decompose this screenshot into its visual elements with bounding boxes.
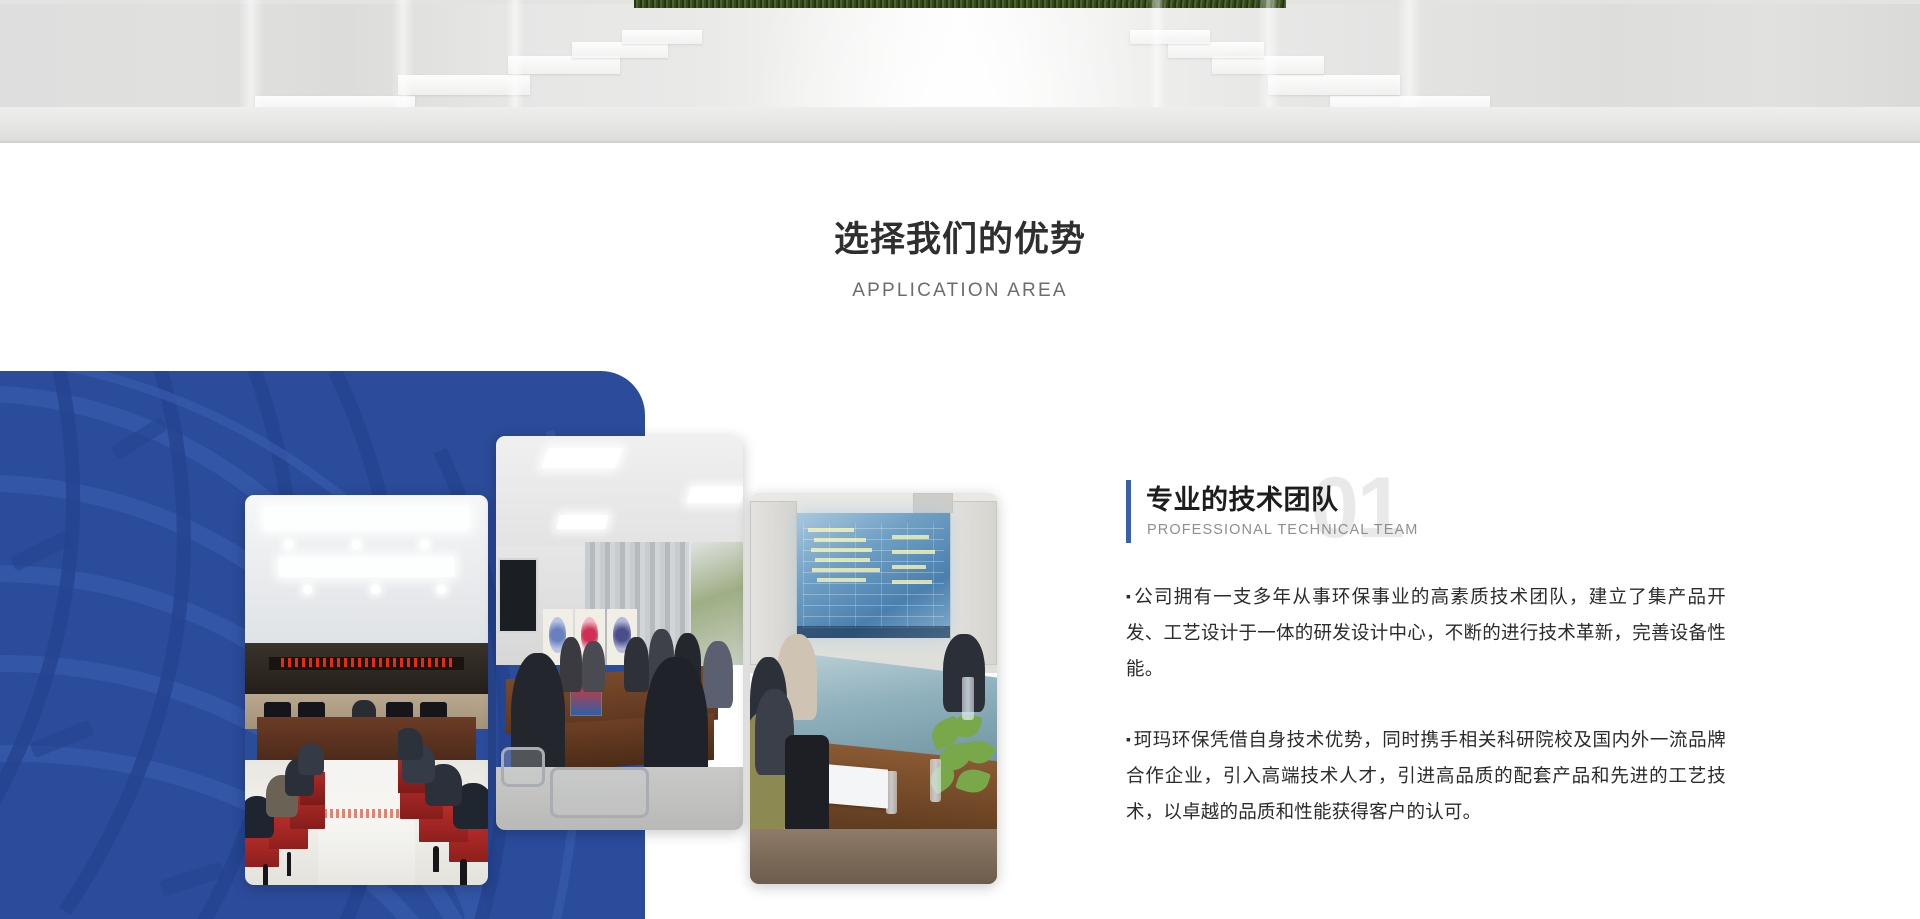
attendee <box>582 641 604 692</box>
accent-bar <box>1126 480 1131 543</box>
downlight <box>420 540 429 549</box>
banner-floor <box>0 107 1920 143</box>
banner-slab <box>1130 30 1210 44</box>
screen-text-row <box>892 535 929 539</box>
bullet-icon: ▪ <box>1126 588 1132 604</box>
ceiling-vent <box>913 493 953 513</box>
screen-text-row <box>814 538 866 542</box>
attendee <box>298 743 324 776</box>
water-bottle <box>886 771 897 814</box>
seat-block-left <box>245 737 325 885</box>
downlight <box>437 585 446 594</box>
page-subtitle: APPLICATION AREA <box>0 280 1920 302</box>
downlight <box>303 585 312 594</box>
banner-slab <box>622 30 702 44</box>
screen-taskbar <box>797 626 950 637</box>
banner-slab <box>572 42 668 58</box>
screen-text-row <box>815 558 870 562</box>
seat-leg <box>287 852 292 876</box>
led-banner-text <box>281 658 452 666</box>
attendee <box>560 637 582 692</box>
attendee <box>624 637 649 692</box>
chair <box>550 767 649 818</box>
seat-leg <box>263 864 269 885</box>
bullet-icon: ▪ <box>1126 731 1132 747</box>
chair <box>501 747 545 786</box>
water-bottle <box>962 677 973 720</box>
paragraph-1-text: 公司拥有一支多年从事环保事业的高素质技术团队，建立了集产品开发、工艺设计于一体的… <box>1126 586 1726 679</box>
feature-title: 专业的技术团队 <box>1146 478 1339 517</box>
feature-heading: 01 专业的技术团队 PROFESSIONAL TECHNICAL TEAM <box>1126 478 1726 554</box>
paragraph-2-text: 珂玛环保凭借自身技术优势，同时携手相关科研院校及国内外一流品牌合作企业，引入高端… <box>1126 729 1726 822</box>
banner-slab <box>1168 42 1264 58</box>
seat-leg <box>460 859 467 885</box>
downlight <box>352 540 361 549</box>
water-bottle <box>930 759 941 802</box>
feature-paragraph-1: ▪公司拥有一支多年从事环保事业的高素质技术团队，建立了集产品开发、工艺设计于一体… <box>1126 578 1726 687</box>
section-header: 选择我们的优势 APPLICATION AREA <box>0 143 1920 369</box>
plant-leaf <box>955 765 991 797</box>
attendee <box>398 728 423 761</box>
downlight <box>284 540 293 549</box>
banner-slab <box>508 56 620 74</box>
screen-text-row <box>808 528 854 532</box>
ceiling-tube-light <box>556 515 609 529</box>
banner-grass-strip <box>634 0 1286 8</box>
banner-slab <box>1268 75 1400 95</box>
screen-text-row <box>892 550 935 554</box>
screen-text-row <box>892 580 932 584</box>
hero-banner <box>0 0 1920 143</box>
feature-paragraph-2: ▪珂玛环保凭借自身技术优势，同时携手相关科研院校及国内外一流品牌合作企业，引入高… <box>1126 721 1726 830</box>
ceiling-tube-light <box>541 448 623 468</box>
screen-text-row <box>811 548 872 552</box>
feature-subtitle: PROFESSIONAL TECHNICAL TEAM <box>1147 522 1418 538</box>
documents-on-table <box>829 764 888 808</box>
ceiling-light <box>279 557 454 577</box>
led-banner <box>269 657 463 670</box>
photo-auditorium[interactable] <box>245 495 488 885</box>
ceiling-light <box>264 507 468 530</box>
seat-leg <box>433 846 439 872</box>
floor <box>750 829 997 884</box>
downlight <box>371 585 380 594</box>
seat-block-right <box>398 721 488 885</box>
screen-text-row <box>812 568 879 572</box>
projector-screen <box>797 513 950 638</box>
attendee <box>703 641 733 708</box>
photo-projector-review[interactable] <box>750 493 997 884</box>
ceiling-tube-light <box>686 487 743 503</box>
screen-text-row <box>817 578 866 582</box>
photo-meeting-room[interactable] <box>496 436 743 830</box>
page-title: 选择我们的优势 <box>0 219 1920 261</box>
screen-text-row <box>892 565 926 569</box>
feature-content: 01 专业的技术团队 PROFESSIONAL TECHNICAL TEAM ▪… <box>1126 478 1726 830</box>
whiteboard-display <box>498 558 538 633</box>
